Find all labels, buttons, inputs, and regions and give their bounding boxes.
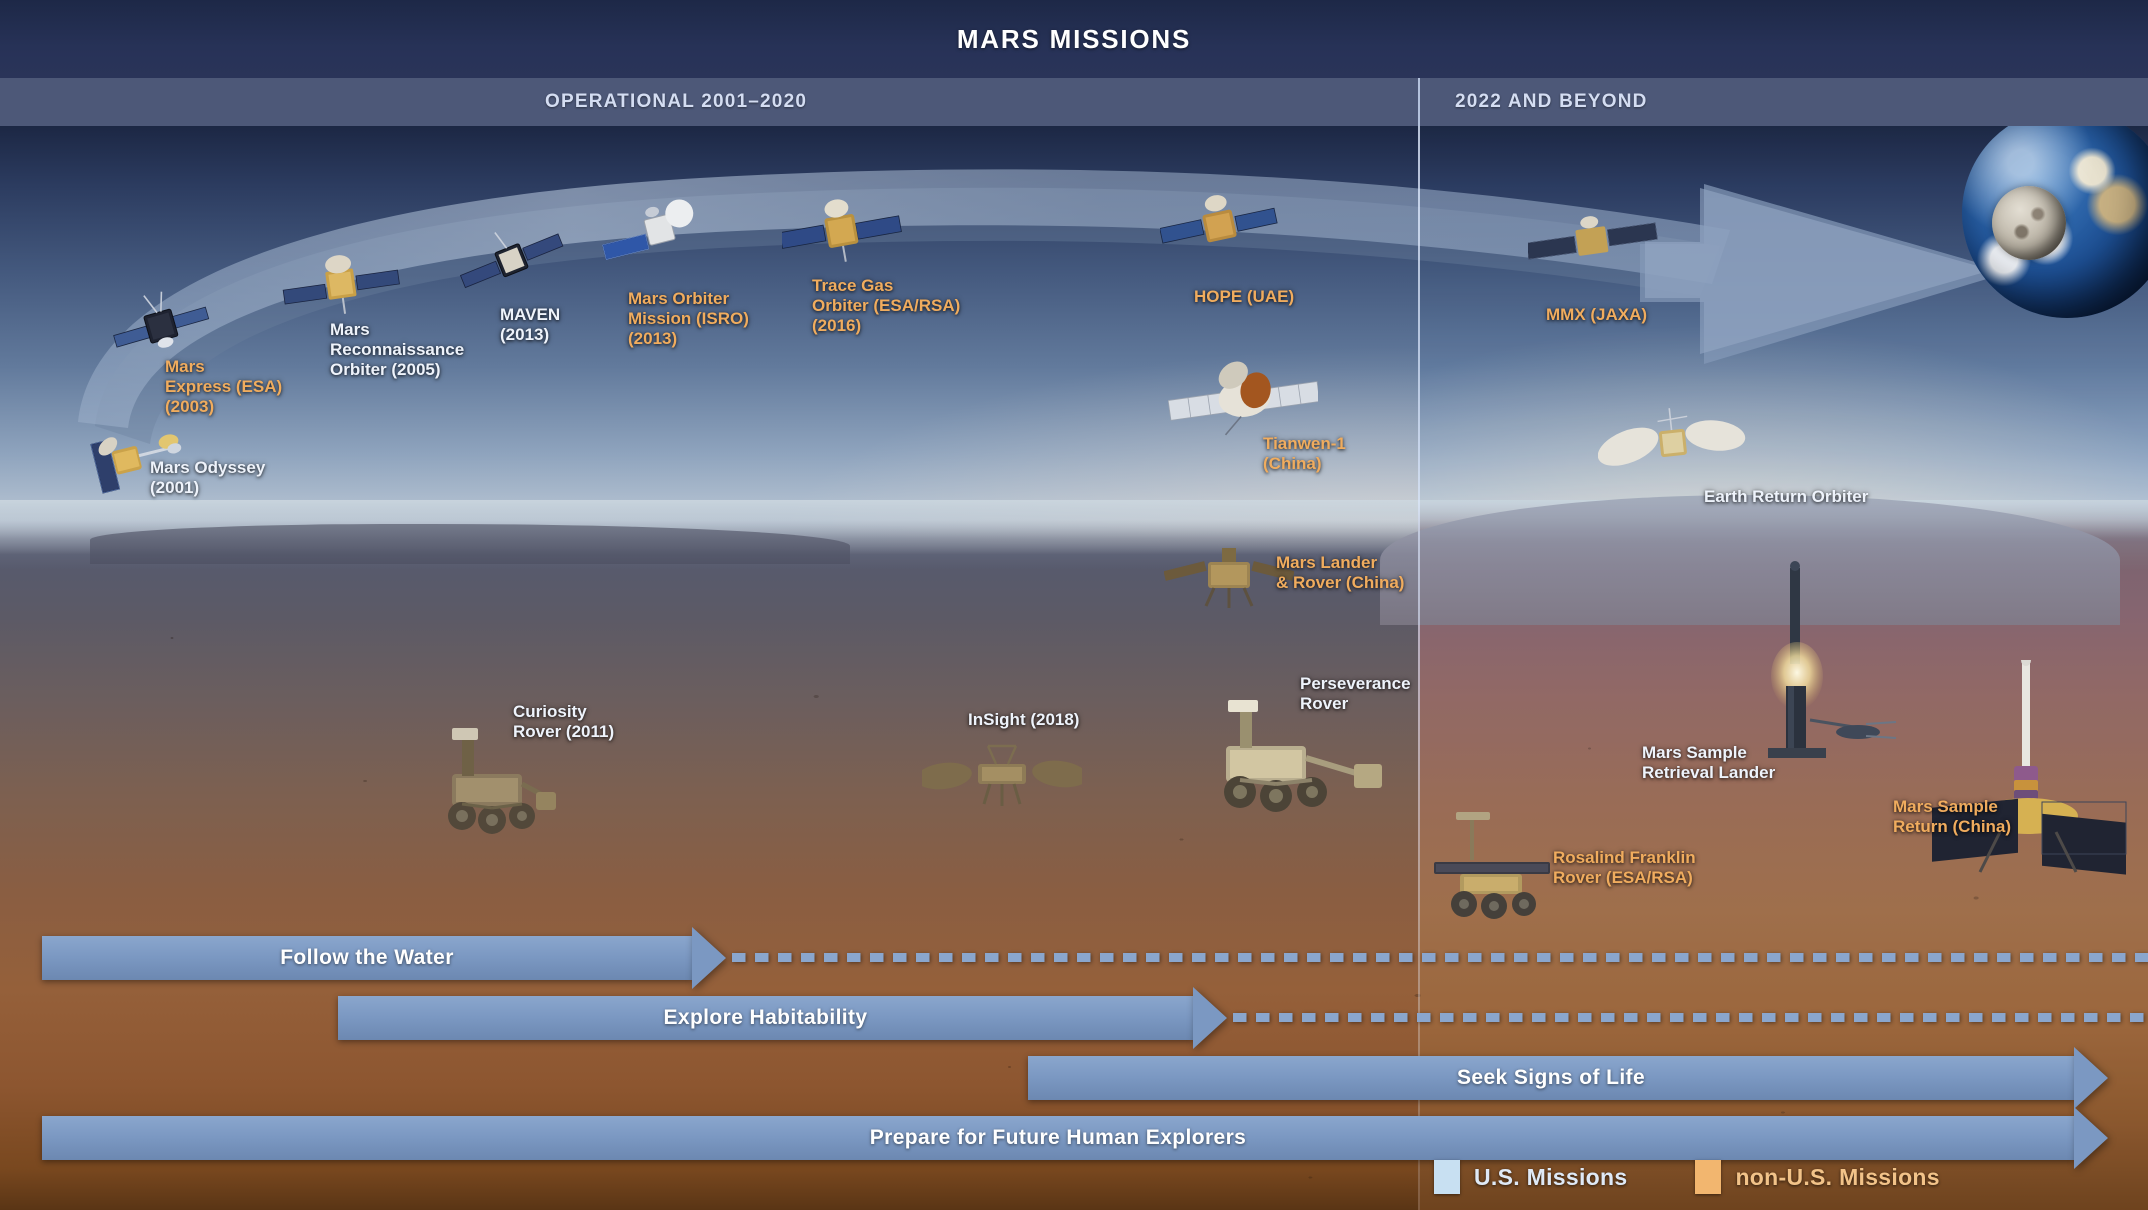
mission-label: Mars Lander & Rover (China) [1276,553,1404,593]
goal-arrow: Explore Habitability [338,996,2148,1040]
mission-label: Mars Reconnaissance Orbiter (2005) [330,320,464,380]
legend-item: U.S. Missions [1434,1160,1627,1194]
mission-label: Perseverance Rover [1300,674,1411,714]
lander-sample-return-china-icon [1930,660,2130,900]
goal-arrow-head-icon [2074,1047,2108,1109]
mission-label: MMX (JAXA) [1546,305,1647,325]
goal-arrow-dotted-continuation [1233,1013,2148,1022]
mars-missions-infographic: Mars Odyssey (2001)Mars Express (ESA) (2… [0,0,2148,1210]
goal-arrow-head-icon [2074,1107,2108,1169]
goal-arrow-head-icon [692,927,726,989]
section-label-operational: OPERATIONAL 2001–2020 [545,78,807,126]
mission-label: Curiosity Rover (2011) [513,702,614,742]
rover-perseverance-icon [1206,700,1396,820]
legend-item: non-U.S. Missions [1695,1160,1939,1194]
orbiter-mmx-icon [1528,210,1658,288]
orbiter-mom-icon [600,196,710,276]
section-header-bar: OPERATIONAL 2001–2020 2022 AND BEYOND [0,78,2148,126]
orbiter-maven-icon [460,225,566,303]
mission-label: Rosalind Franklin Rover (ESA/RSA) [1553,848,1696,888]
goal-arrow-label: Follow the Water [42,936,692,980]
legend: U.S. Missionsnon-U.S. Missions [1434,1160,1940,1194]
section-header-divider [1418,78,1420,126]
mission-label: Earth Return Orbiter [1704,487,1868,507]
legend-label: non-U.S. Missions [1735,1164,1939,1191]
lander-insight-icon [922,736,1082,814]
mission-label: HOPE (UAE) [1194,287,1294,307]
goal-arrow-label: Prepare for Future Human Explorers [42,1116,2074,1160]
mission-label: Tianwen-1 (China) [1263,434,1346,474]
rover-curiosity-icon [418,726,558,846]
mission-label: Trace Gas Orbiter (ESA/RSA) (2016) [812,276,960,336]
legend-label: U.S. Missions [1474,1164,1627,1191]
mission-label: Mars Sample Retrieval Lander [1642,743,1775,783]
moon-icon [1992,186,2066,260]
orbiter-tgo-icon [782,196,902,284]
title-bar: MARS MISSIONS [0,0,2148,78]
legend-swatch-icon [1434,1160,1460,1194]
section-label-future: 2022 AND BEYOND [1455,78,1648,126]
mission-label: Mars Odyssey (2001) [150,458,265,498]
goal-arrow: Seek Signs of Life [1028,1056,2108,1100]
mission-label: Mars Sample Return (China) [1893,797,2011,837]
mission-label: Mars Orbiter Mission (ISRO) (2013) [628,289,749,349]
orbiter-hope-icon [1160,192,1280,274]
lander-rover-china-icon [1164,544,1294,626]
section-divider [1418,126,1420,1210]
goal-arrow-label: Explore Habitability [338,996,1193,1040]
goal-arrow-label: Seek Signs of Life [1028,1056,2074,1100]
goal-arrow: Follow the Water [42,936,2148,980]
mission-label: MAVEN (2013) [500,305,560,345]
mission-label: InSight (2018) [968,710,1079,730]
goal-arrow-dotted-continuation [732,953,2148,962]
goal-arrow: Prepare for Future Human Explorers [42,1116,2108,1160]
legend-swatch-icon [1695,1160,1721,1194]
page-title: MARS MISSIONS [0,0,2148,78]
rover-rosalind-franklin-icon [1428,812,1558,922]
mission-label: Mars Express (ESA) (2003) [165,357,282,417]
orbiter-tianwen1-icon [1168,348,1318,440]
orbiter-earth-return-icon [1598,400,1748,488]
goal-arrow-head-icon [1193,987,1227,1049]
terrain-ridge-left [90,524,850,564]
